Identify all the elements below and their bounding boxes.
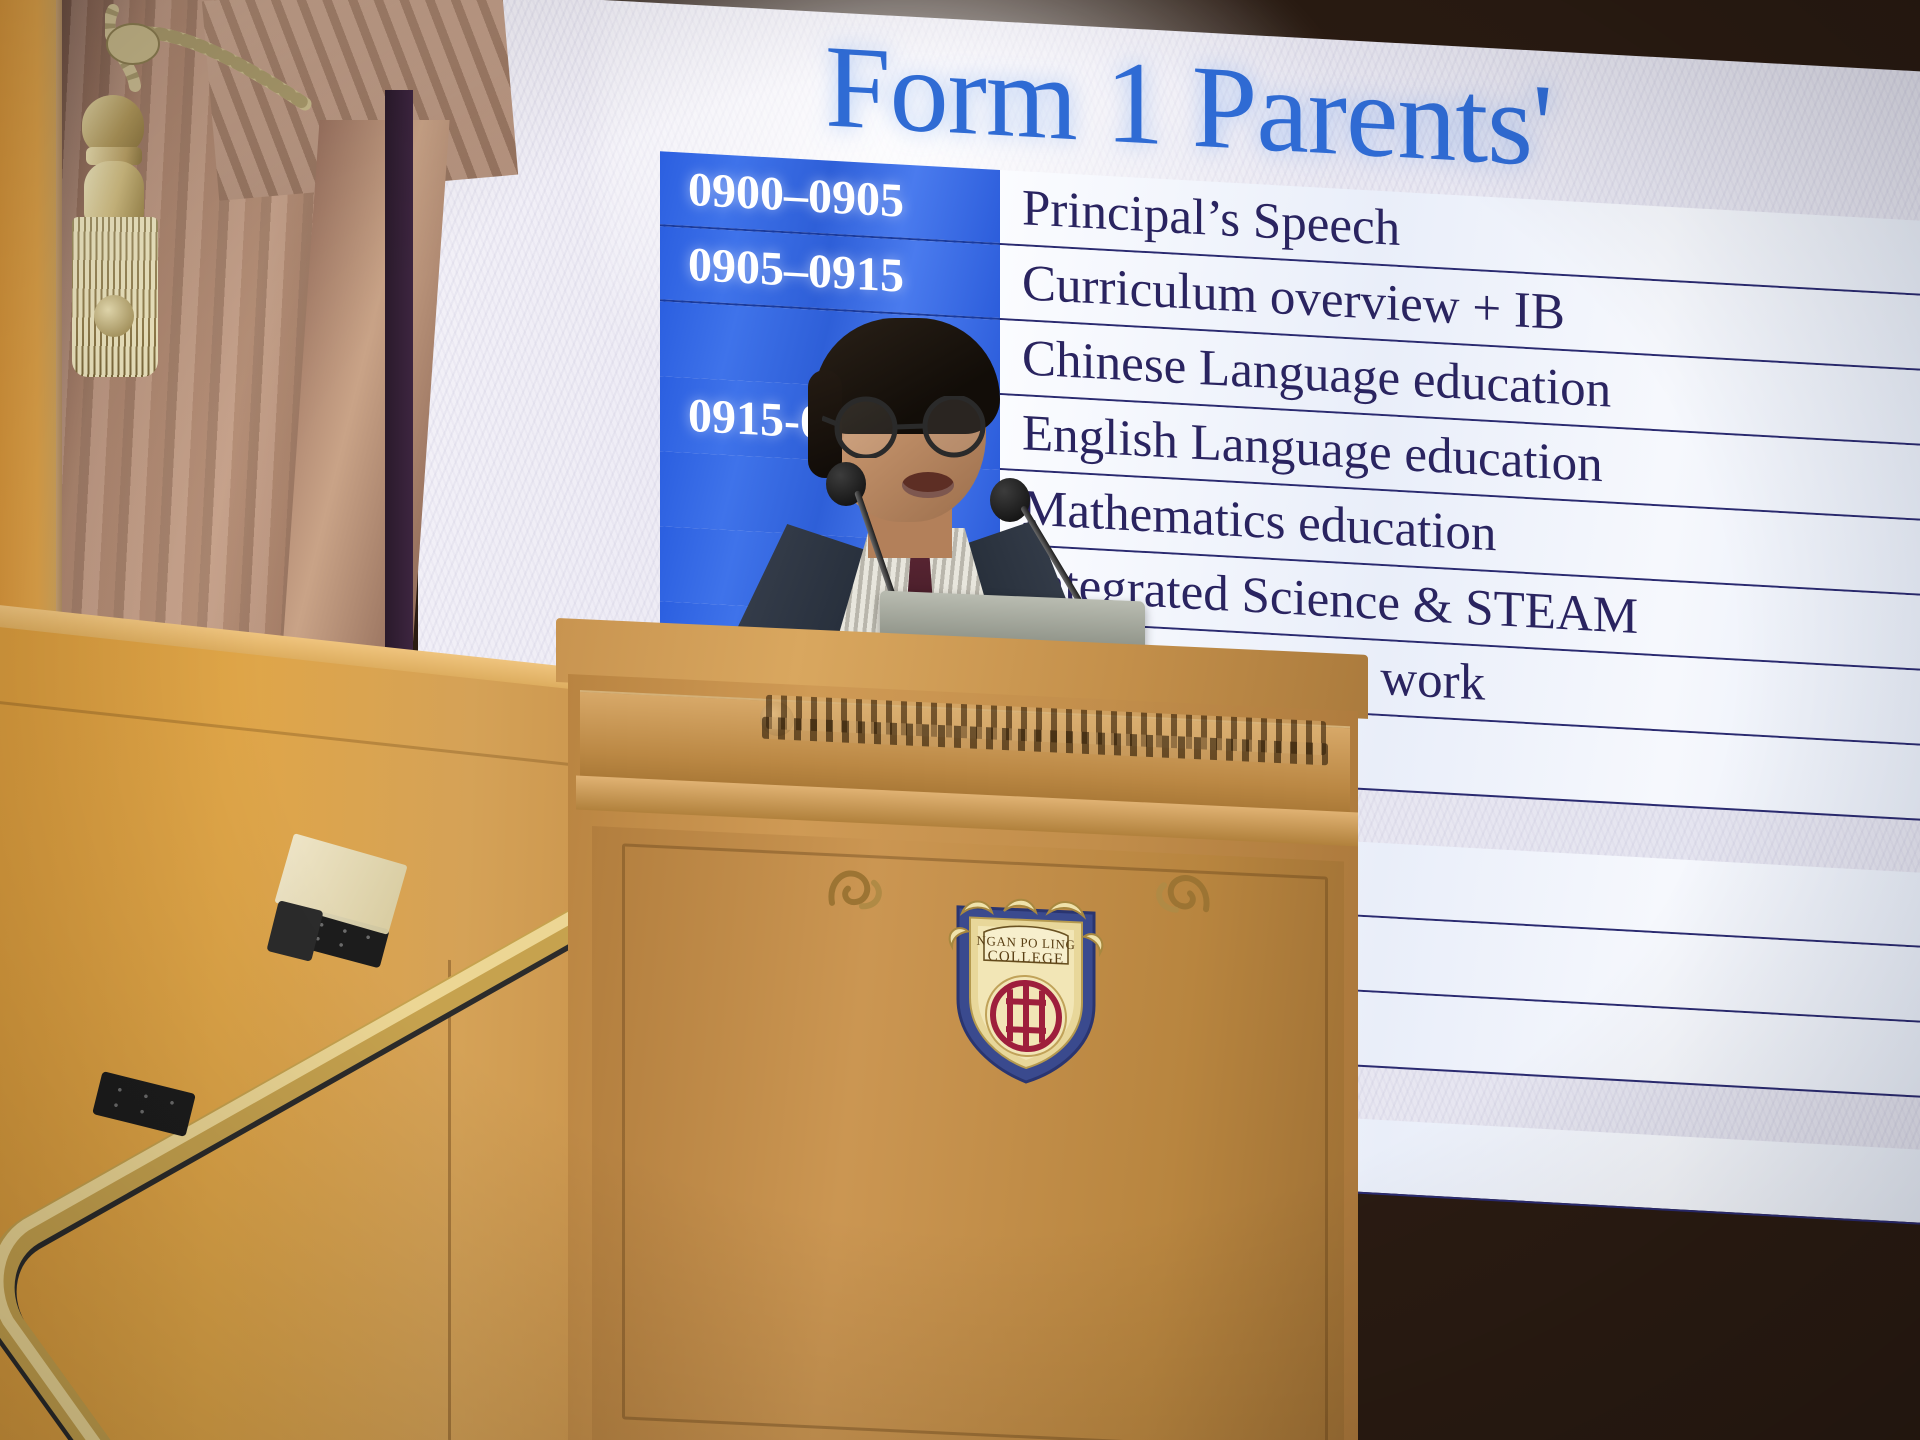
school-crest: NGAN PO LING COLLEGE — [944, 886, 1108, 1089]
scroll-ornament-left-icon — [826, 861, 888, 916]
podium: NGAN PO LING COLLEGE — [556, 618, 1368, 1440]
tassel-dome — [84, 161, 144, 223]
crest-line-2: COLLEGE — [988, 948, 1065, 967]
scroll-ornament-right-icon — [1150, 865, 1212, 920]
photo-scene: Form 1 Parents' 0900–0905 Principal’s Sp… — [0, 0, 1920, 1440]
curtain-tassel — [60, 95, 170, 375]
eyeglasses-icon — [822, 396, 1002, 458]
curtain-shadow-gap — [385, 90, 413, 690]
side-wall — [0, 0, 62, 700]
tassel-knot — [94, 295, 134, 337]
tassel-head — [82, 95, 144, 155]
